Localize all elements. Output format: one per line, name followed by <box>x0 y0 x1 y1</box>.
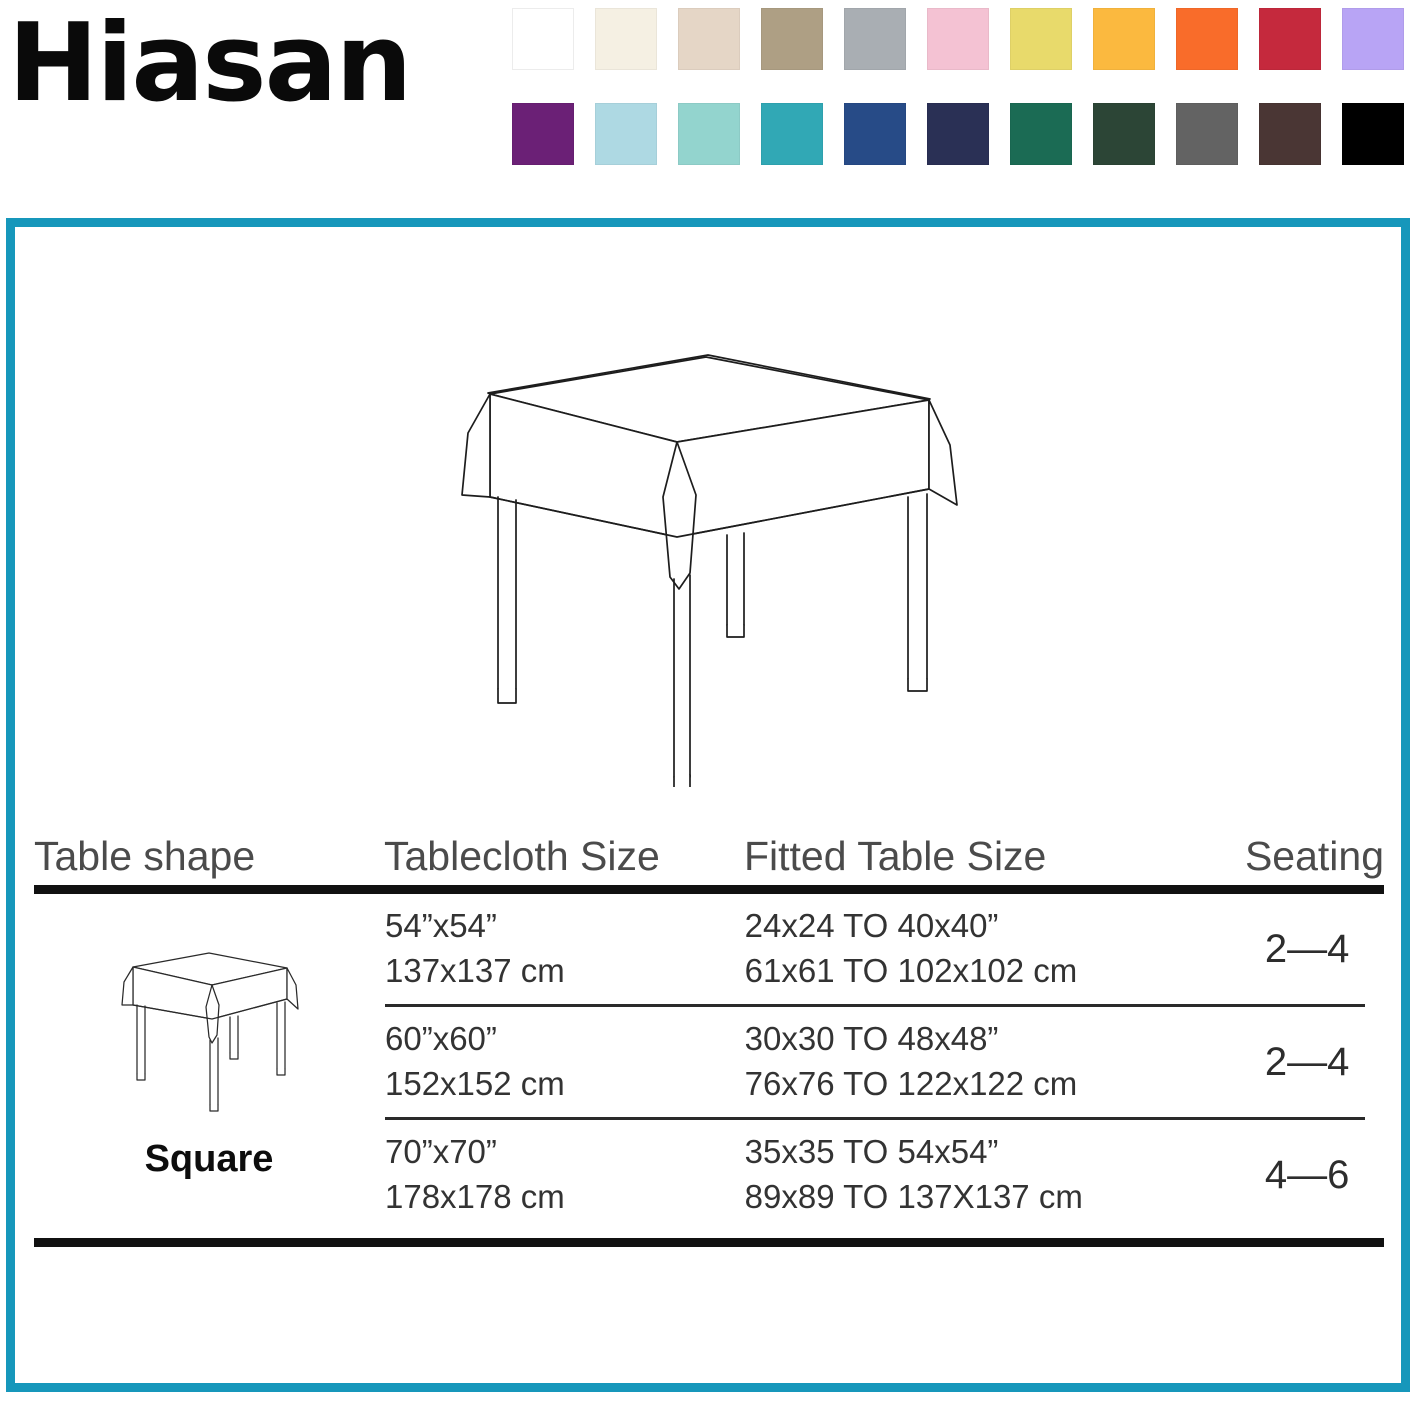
cloth-size-cm: 137x137 cm <box>385 949 745 994</box>
color-swatch-aqua[interactable] <box>678 103 740 165</box>
fitted-size-cm: 76x76 TO 122x122 cm <box>745 1062 1231 1107</box>
color-swatch-dark-brown[interactable] <box>1259 103 1321 165</box>
color-swatch-forest-green[interactable] <box>1093 103 1155 165</box>
cell-seating: 4—6 <box>1230 1148 1384 1202</box>
color-swatch-panel <box>512 8 1402 166</box>
color-swatch-white[interactable] <box>512 8 574 70</box>
info-card-frame: Table shape Tablecloth Size Fitted Table… <box>6 218 1410 1392</box>
color-swatch-amber[interactable] <box>1093 8 1155 70</box>
cloth-size-inches: 70”x70” <box>385 1133 497 1170</box>
color-swatch-black[interactable] <box>1342 103 1404 165</box>
fitted-size-inches: 35x35 TO 54x54” <box>745 1133 999 1170</box>
color-swatch-purple[interactable] <box>512 103 574 165</box>
fitted-size-inches: 30x30 TO 48x48” <box>745 1020 999 1057</box>
color-swatch-pink[interactable] <box>927 8 989 70</box>
column-header-seating: Seating <box>1230 836 1384 877</box>
cell-fitted-table-size: 30x30 TO 48x48” 76x76 TO 122x122 cm <box>745 1017 1231 1107</box>
table-row: 54”x54” 137x137 cm 24x24 TO 40x40” 61x61… <box>385 894 1384 1004</box>
cell-fitted-table-size: 35x35 TO 54x54” 89x89 TO 137X137 cm <box>745 1130 1231 1220</box>
brand-logo: Hiasan <box>8 8 478 120</box>
column-header-table-shape: Table shape <box>34 836 384 877</box>
cloth-size-inches: 60”x60” <box>385 1020 497 1057</box>
product-size-chart-infographic: Hiasan <box>0 0 1416 1402</box>
color-swatch-orange[interactable] <box>1176 8 1238 70</box>
color-swatch-yellow[interactable] <box>1010 8 1072 70</box>
table-shape-label: Square <box>145 1138 274 1181</box>
table-row: 70”x70” 178x178 cm 35x35 TO 54x54” 89x89… <box>385 1120 1384 1230</box>
column-header-fitted-table-size: Fitted Table Size <box>744 836 1230 877</box>
color-swatch-grey[interactable] <box>844 8 906 70</box>
cell-tablecloth-size: 70”x70” 178x178 cm <box>385 1130 745 1220</box>
cell-fitted-table-size: 24x24 TO 40x40” 61x61 TO 102x102 cm <box>745 904 1231 994</box>
color-swatch-charcoal-grey[interactable] <box>1176 103 1238 165</box>
cloth-size-cm: 152x152 cm <box>385 1062 745 1107</box>
color-swatch-navy[interactable] <box>927 103 989 165</box>
color-swatch-row-1 <box>512 8 1402 70</box>
cell-tablecloth-size: 60”x60” 152x152 cm <box>385 1017 745 1107</box>
color-swatch-ivory[interactable] <box>595 8 657 70</box>
column-header-tablecloth-size: Tablecloth Size <box>384 836 744 877</box>
cell-seating: 2—4 <box>1230 922 1384 976</box>
square-table-small-icon <box>111 937 307 1128</box>
cloth-size-inches: 54”x54” <box>385 907 497 944</box>
fitted-size-cm: 89x89 TO 137X137 cm <box>745 1175 1231 1220</box>
cloth-size-cm: 178x178 cm <box>385 1175 745 1220</box>
color-swatch-light-blue[interactable] <box>595 103 657 165</box>
color-swatch-royal-blue[interactable] <box>844 103 906 165</box>
color-swatch-emerald[interactable] <box>1010 103 1072 165</box>
table-footer-divider <box>34 1238 1384 1247</box>
cell-tablecloth-size: 54”x54” 137x137 cm <box>385 904 745 994</box>
table-shape-cell: Square <box>34 894 384 1224</box>
table-header-divider <box>34 885 1384 894</box>
table-body: Square 54”x54” 137x137 cm 24x24 TO 40x40… <box>34 894 1384 1230</box>
size-specification-table: Table shape Tablecloth Size Fitted Table… <box>34 815 1384 1247</box>
color-swatch-row-2 <box>512 103 1402 165</box>
fitted-size-cm: 61x61 TO 102x102 cm <box>745 949 1231 994</box>
table-header-row: Table shape Tablecloth Size Fitted Table… <box>34 815 1384 877</box>
fitted-size-inches: 24x24 TO 40x40” <box>745 907 999 944</box>
color-swatch-teal[interactable] <box>761 103 823 165</box>
color-swatch-lavender[interactable] <box>1342 8 1404 70</box>
color-swatch-red[interactable] <box>1259 8 1321 70</box>
table-row: 60”x60” 152x152 cm 30x30 TO 48x48” 76x76… <box>385 1007 1384 1117</box>
cell-seating: 2—4 <box>1230 1035 1384 1089</box>
brand-wordmark: Hiasan <box>8 10 410 118</box>
square-table-with-tablecloth-illustration <box>15 337 1401 787</box>
color-swatch-beige[interactable] <box>678 8 740 70</box>
color-swatch-taupe[interactable] <box>761 8 823 70</box>
